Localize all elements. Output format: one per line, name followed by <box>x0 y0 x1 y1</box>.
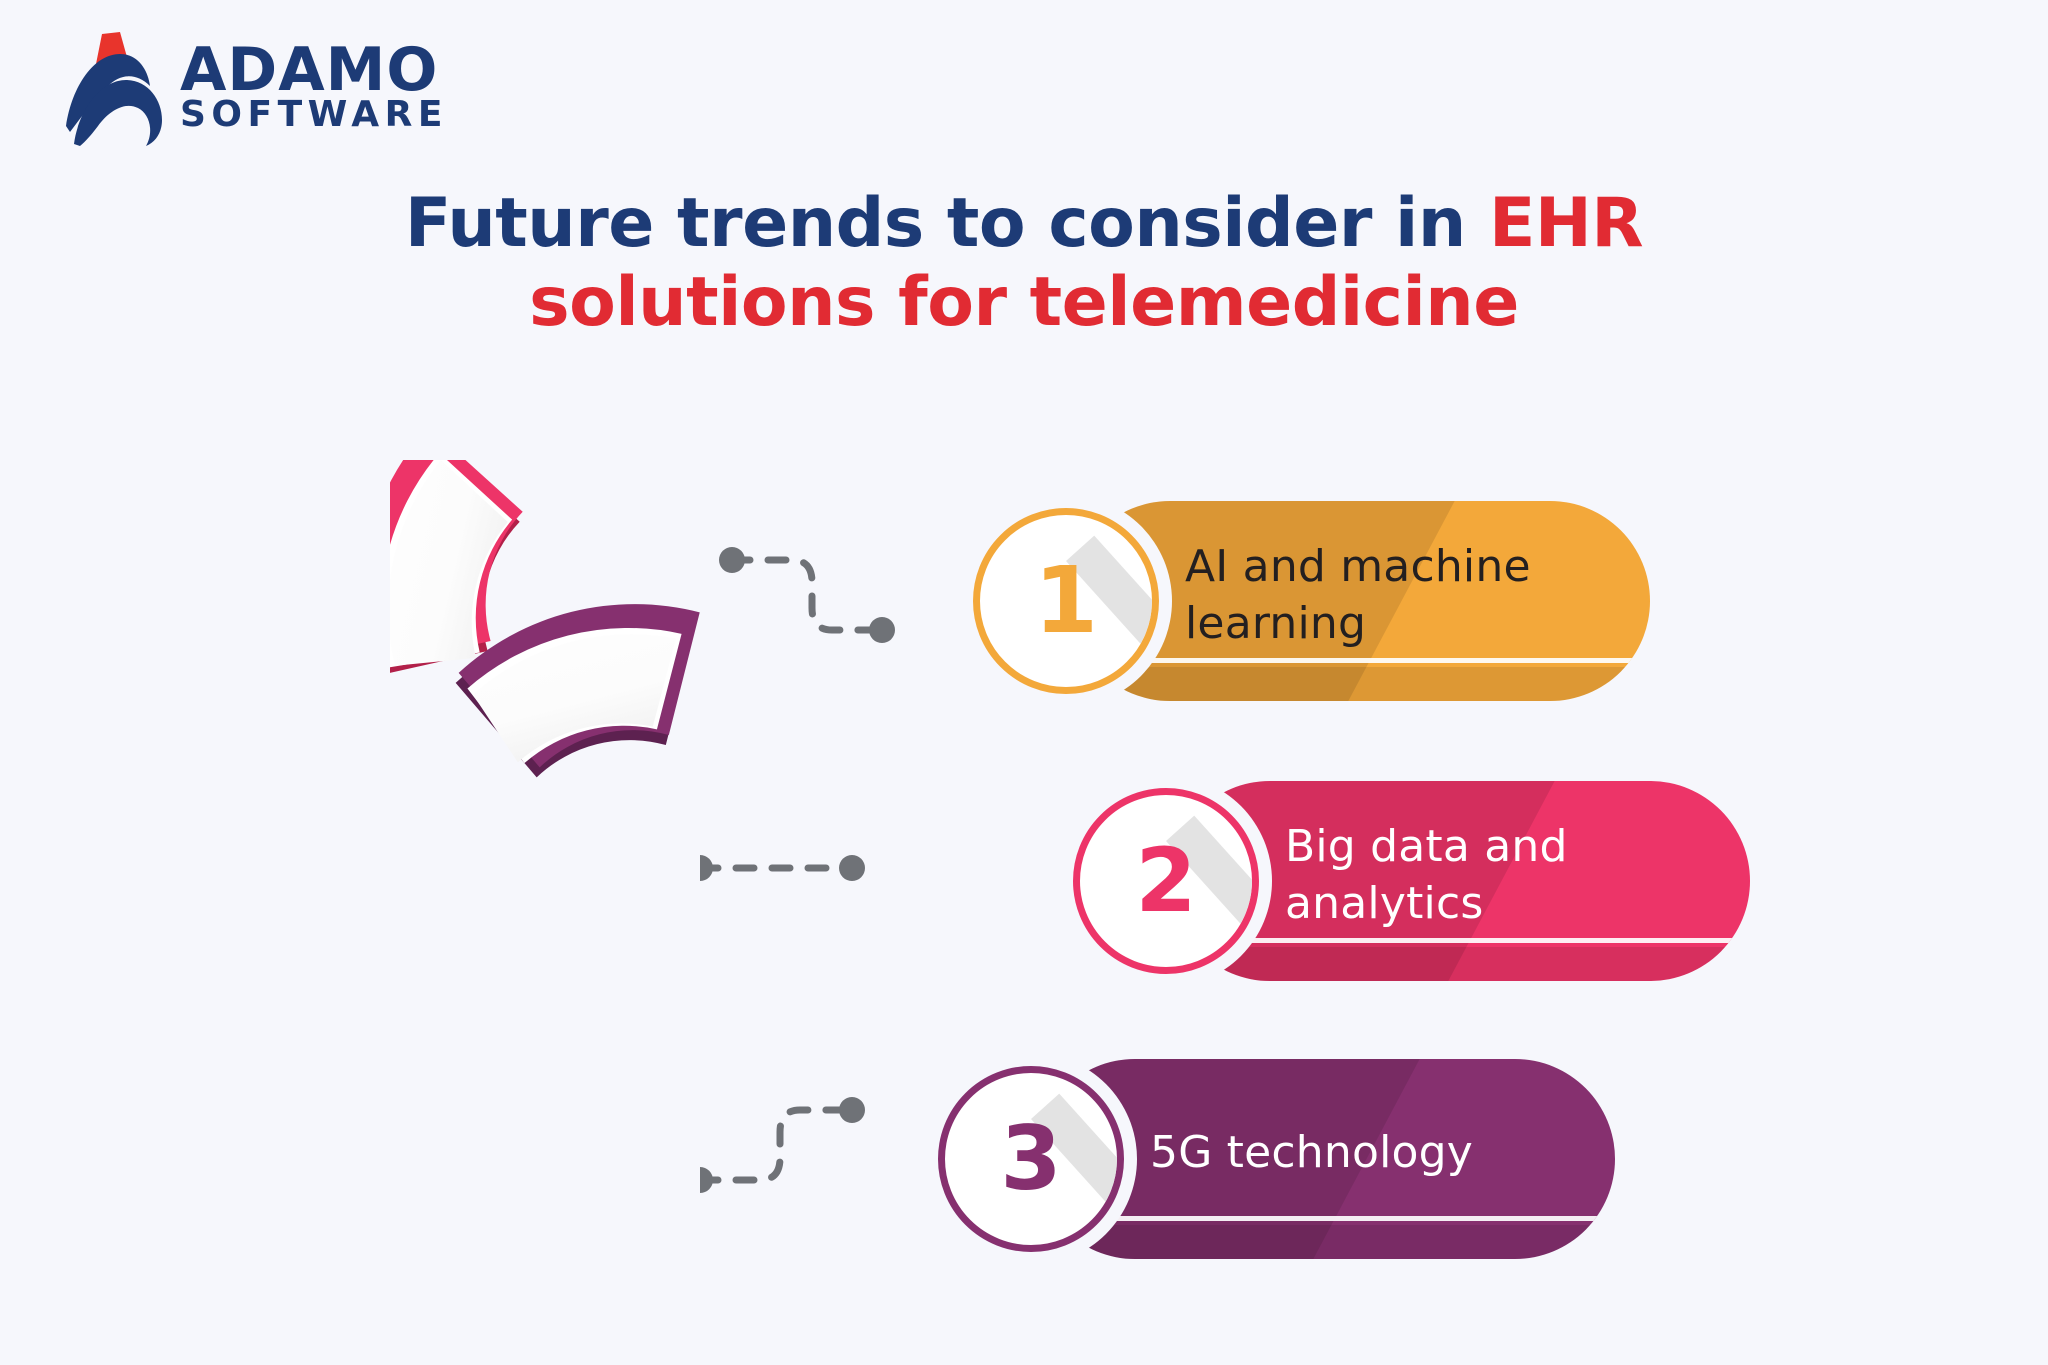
connector-line-3 <box>700 1110 852 1180</box>
connector-line-1 <box>732 560 882 630</box>
trend-badge-1[interactable]: 1 <box>960 495 1172 707</box>
trend-badge-3[interactable]: 3 <box>925 1053 1137 1265</box>
trend-card-2[interactable]: Big data and analytics 2 <box>1060 775 1750 993</box>
trend-label-3: 5G technology <box>1150 1053 1570 1253</box>
trend-card-1[interactable]: AI and machine learning 1 <box>960 495 1650 713</box>
connector-dot-2-start <box>700 855 713 881</box>
trend-label-2: Big data and analytics <box>1285 775 1705 975</box>
connector-dot-1-end <box>869 617 895 643</box>
badge-number-1: 1 <box>960 495 1172 707</box>
connector-dot-3-start <box>700 1167 713 1193</box>
trend-badge-2[interactable]: 2 <box>1060 775 1272 987</box>
trend-label-1: AI and machine learning <box>1185 495 1605 695</box>
connector-dot-2-end <box>839 855 865 881</box>
connector-dot-1-start <box>719 547 745 573</box>
infographic-stage: AI and machine learning 1 Big data and a… <box>0 0 2048 1365</box>
badge-number-3: 3 <box>925 1053 1137 1265</box>
connector-dot-3-end <box>839 1097 865 1123</box>
badge-number-2: 2 <box>1060 775 1272 987</box>
trend-card-3[interactable]: 5G technology 3 <box>925 1053 1615 1271</box>
